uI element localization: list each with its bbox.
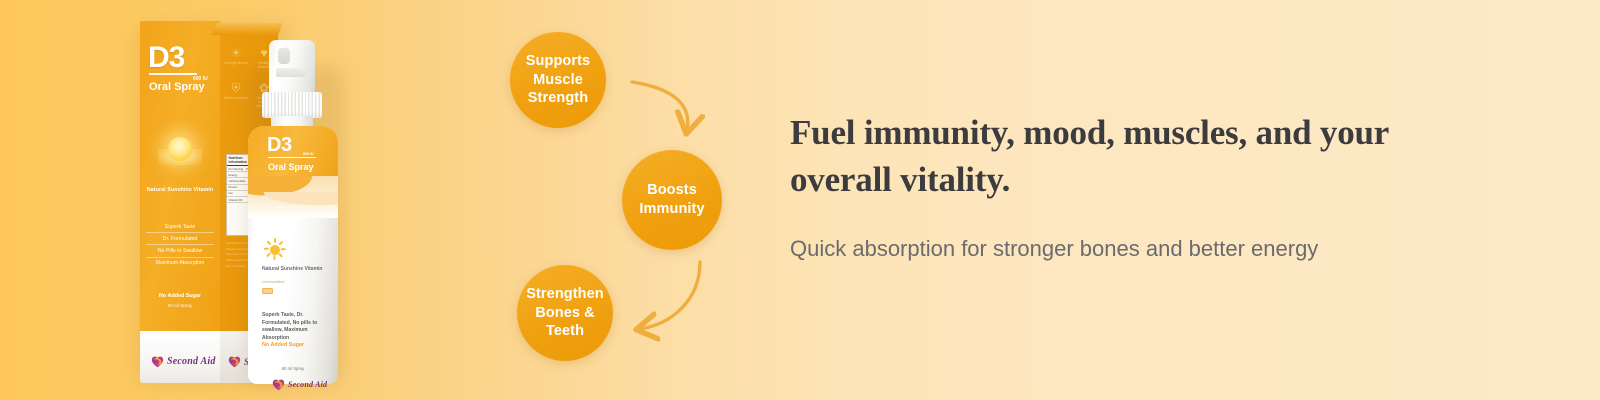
brand-logo-carton-front: Second Aid [151, 355, 216, 368]
sun-rays-icon [262, 238, 288, 260]
bottle-claims: Superb Taste, Dr. Formulated, No pills t… [262, 312, 332, 343]
headline: Fuel immunity, mood, muscles, and your o… [790, 110, 1430, 203]
carton-front-face [140, 21, 220, 383]
bottle-product-name: D3 [267, 135, 292, 155]
carton-bullet: No Pills to Swallow [146, 245, 214, 257]
copy-block: Fuel immunity, mood, muscles, and your o… [790, 110, 1430, 264]
product-bottle: D3 600 IU Oral Spray Natural Sunshine Vi… [240, 30, 348, 386]
benefit-label: Boosts Immunity [622, 181, 722, 218]
benefit-label: Supports Muscle Strength [510, 52, 606, 108]
bottle-label-wave-secondary [248, 192, 338, 218]
carton-volume: 60 ml Spray [140, 303, 220, 308]
subheadline: Quick absorption for stronger bones and … [790, 233, 1350, 264]
brand-logo-bottle: Second Aid [272, 378, 327, 391]
second-aid-heart-icon [272, 378, 285, 391]
arrow-immunity-to-bones [640, 262, 700, 329]
bottle-dose: 600 IU [303, 152, 314, 156]
benefit-circle-immunity[interactable]: Boosts Immunity [622, 150, 722, 250]
product-banner: D3 600 IU Oral Spray Natural Sunshine Vi… [0, 0, 1600, 400]
bottle-volume: 60 ml Spray [248, 366, 338, 371]
benefit-label: Strengthen Bones & Teeth [517, 285, 613, 341]
bottle-collar [262, 92, 322, 118]
bottle-no-sugar-claim: No Added Sugar [262, 342, 304, 348]
nutrition-row-name: Fat [229, 191, 233, 195]
brand-wordmark: Second Aid [288, 380, 327, 389]
bottle-sub-descriptor: Cholecalciferol [262, 280, 284, 284]
sun-illustration-icon [158, 131, 202, 167]
carton-bullet-list: Superb Taste Dr. Formulated No Pills to … [146, 221, 214, 269]
product-image-group: D3 600 IU Oral Spray Natural Sunshine Vi… [135, 12, 375, 384]
carton-bullet: Dr. Formulated [146, 233, 214, 245]
carton-bullet: Superb Taste [146, 221, 214, 233]
carton-no-sugar-claim: No Added Sugar [140, 293, 220, 299]
bottle-body: D3 600 IU Oral Spray Natural Sunshine Vi… [248, 126, 338, 384]
brand-wordmark: Second Aid [167, 356, 216, 367]
carton-form: Oral Spray [149, 81, 205, 93]
nutrition-row-name: Protein [229, 185, 238, 189]
bottle-divider-rule [268, 157, 316, 158]
benefit-circle-muscle-strength[interactable]: Supports Muscle Strength [510, 32, 606, 128]
spray-nozzle-cap [269, 40, 315, 98]
carton-tagline: Natural Sunshine Vitamin [140, 187, 220, 193]
arrow-muscle-to-immunity [632, 82, 688, 130]
bottle-descriptor: Natural Sunshine Vitamin [262, 266, 322, 273]
benefit-circle-bones-teeth[interactable]: Strengthen Bones & Teeth [517, 265, 613, 361]
carton-product-name: D3 [148, 43, 184, 73]
bottle-form: Oral Spray [268, 162, 314, 172]
carton-bullet: Maximum Absorption [146, 258, 214, 269]
second-aid-heart-icon [151, 355, 164, 368]
bottle-badge-chip [262, 288, 273, 294]
carton-divider-rule [149, 73, 197, 75]
nutrition-row-name: Energy [229, 173, 238, 177]
